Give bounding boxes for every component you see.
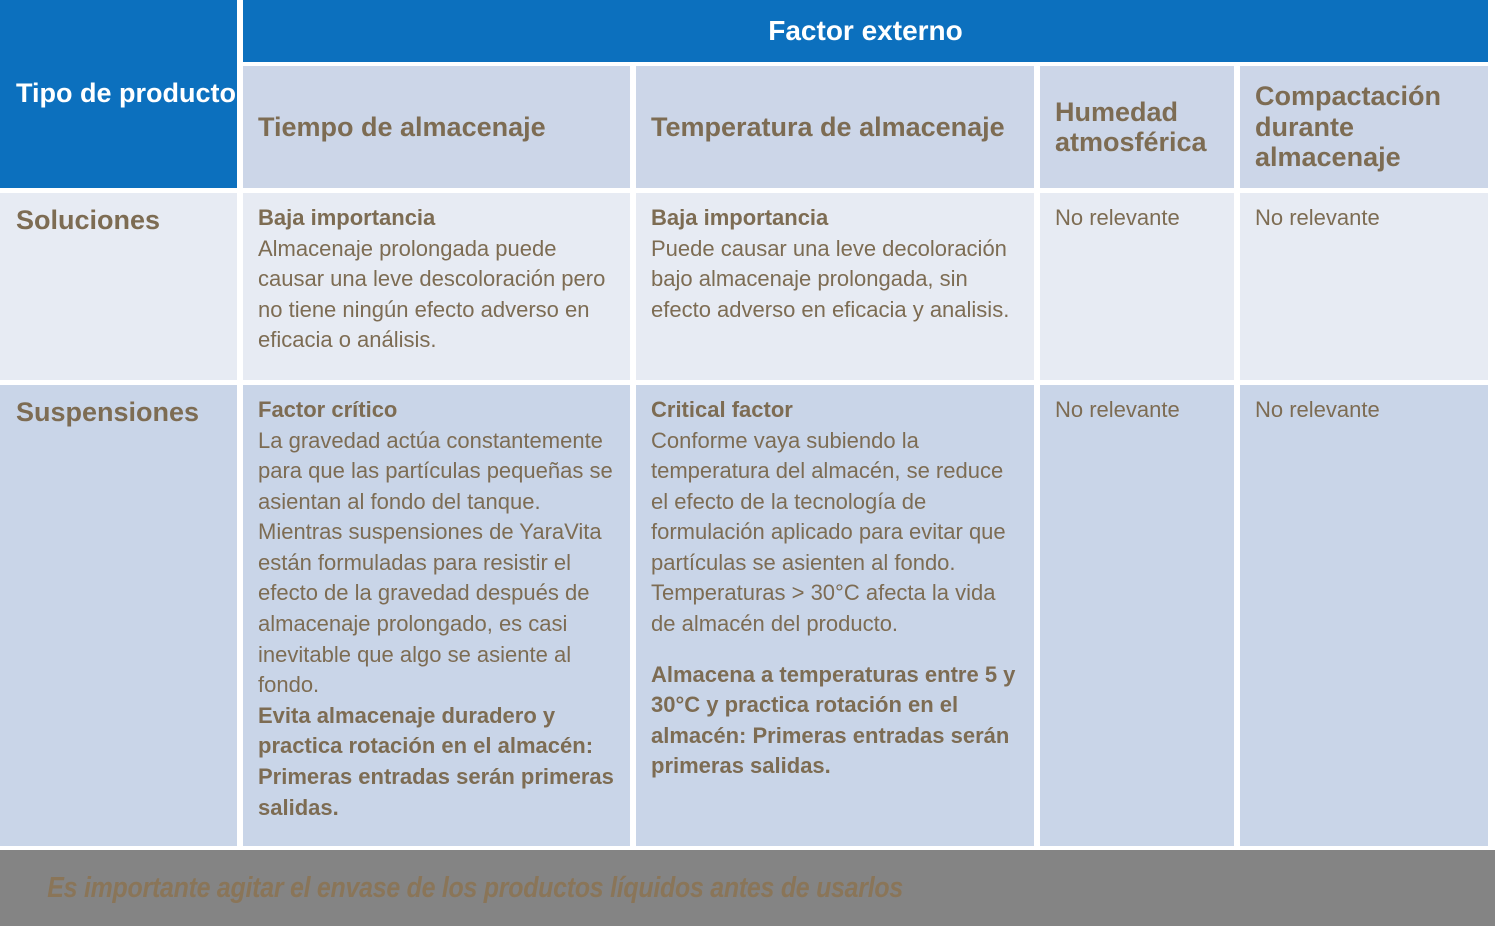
cell-spacer [651,640,1024,660]
cell-suspensiones-humedad: No relevante [1040,385,1234,846]
cell-soluciones-temperatura: Baja importancia Puede causar una leve d… [636,193,1034,380]
cell-paragraph: Almacenaje prolongada puede causar una l… [258,234,620,356]
cell-suspensiones-compactacion: No relevante [1240,385,1488,846]
storage-factors-table: Tipo de producto Factor externo Tiempo d… [0,0,1488,846]
column-header-tiempo-de-almacenaje: Tiempo de almacenaje [243,66,630,188]
table-corner-header: Tipo de producto [0,0,237,188]
group-header-factor-externo: Factor externo [243,0,1488,62]
cell-paragraph: Puede causar una leve decoloración bajo … [651,234,1024,326]
column-header-compactacion-durante-almacenaje: Compactación durante almacenaje [1240,66,1488,188]
row-header-soluciones: Soluciones [0,193,237,380]
cell-lead: Critical factor [651,395,1024,426]
cell-lead: Baja importancia [651,203,1024,234]
column-header-temperatura-de-almacenaje: Temperatura de almacenaje [636,66,1034,188]
cell-paragraph: Conforme vaya subiendo la temperatura de… [651,426,1024,640]
cell-suspensiones-tiempo: Factor crítico La gravedad actúa constan… [243,385,630,846]
cell-soluciones-humedad: No relevante [1040,193,1234,380]
slide-root: Tipo de producto Factor externo Tiempo d… [0,0,1495,926]
cell-lead: Factor crítico [258,395,620,426]
row-header-suspensiones: Suspensiones [0,385,237,846]
cell-soluciones-compactacion: No relevante [1240,193,1488,380]
cell-lead: Baja importancia [258,203,620,234]
footer-band: Es importante agitar el envase de los pr… [0,850,1495,926]
cell-paragraph: La gravedad actúa constantemente para qu… [258,426,620,701]
cell-emphasis: Almacena a temperaturas entre 5 y 30°C y… [651,660,1024,782]
column-header-humedad-atmosferica: Humedad atmosférica [1040,66,1234,188]
cell-emphasis: Evita almacenaje duradero y practica rot… [258,701,620,823]
cell-suspensiones-temperatura: Critical factor Conforme vaya subiendo l… [636,385,1034,846]
cell-soluciones-tiempo: Baja importancia Almacenaje prolongada p… [243,193,630,380]
footer-note: Es importante agitar el envase de los pr… [0,872,903,905]
